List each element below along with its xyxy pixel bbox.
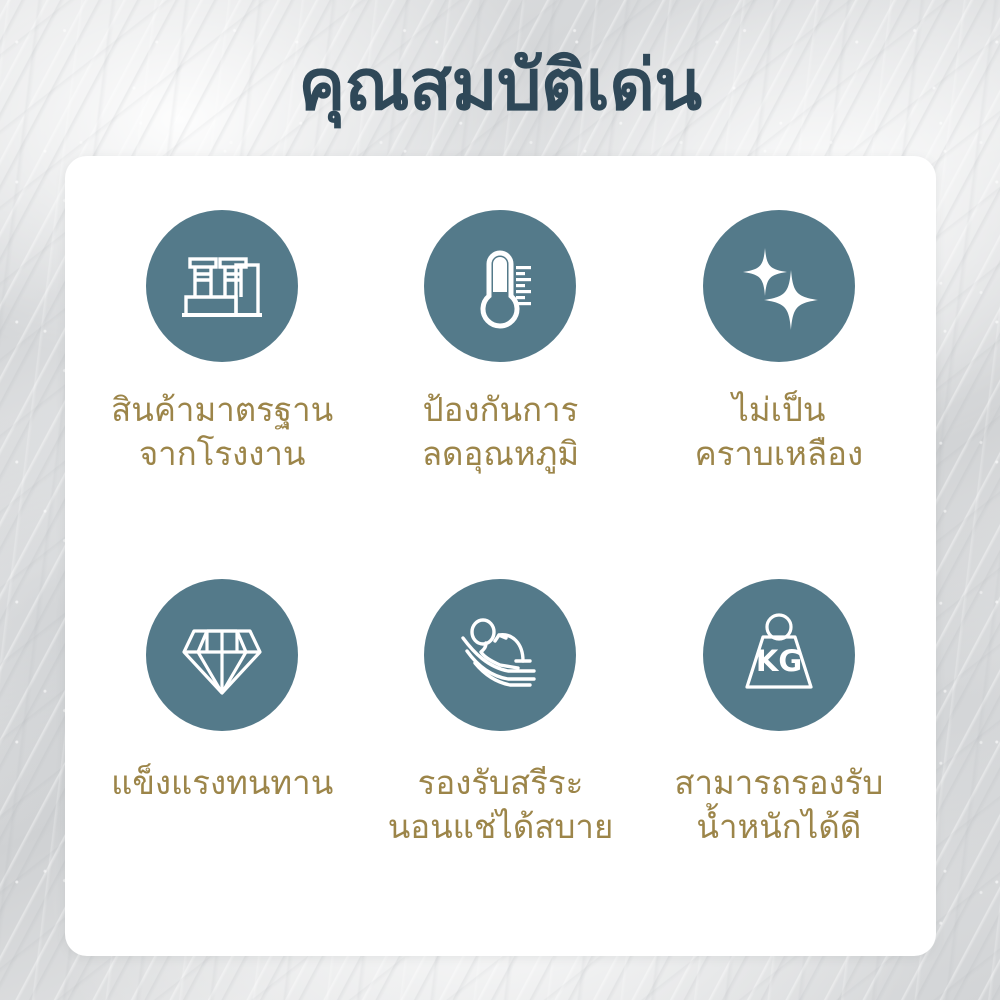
sparkle-icon-circle <box>703 210 855 362</box>
features-grid: สินค้ามาตรฐาน จากโรงงาน <box>65 156 936 956</box>
feature-item-weight: KG สามารถรองรับ น้ำหนักได้ดี <box>640 561 918 930</box>
feature-item-thermometer: ป้องกันการ ลดอุณหภูมิ <box>361 192 639 561</box>
feature-item-reclining-person: รองรับสรีระ นอนแช่ได้สบาย <box>361 561 639 930</box>
feature-item-diamond: แข็งแรงทนทาน <box>83 561 361 930</box>
diamond-icon-circle <box>146 579 298 731</box>
factory-icon-circle <box>146 210 298 362</box>
thermometer-icon <box>452 238 548 334</box>
page-title: คุณสมบัติเด่น <box>0 44 1000 127</box>
reclining-person-icon-circle <box>424 579 576 731</box>
weight-icon-circle: KG <box>703 579 855 731</box>
feature-label-thermometer: ป้องกันการ ลดอุณหภูมิ <box>422 388 579 475</box>
weight-kg-icon: KG <box>731 607 827 703</box>
kg-label: KG <box>756 644 802 678</box>
feature-label-reclining-person: รองรับสรีระ นอนแช่ได้สบาย <box>388 761 614 848</box>
sparkle-icon <box>729 236 829 336</box>
factory-icon <box>174 238 270 334</box>
feature-label-factory: สินค้ามาตรฐาน จากโรงงาน <box>111 388 333 475</box>
feature-label-weight: สามารถรองรับ น้ำหนักได้ดี <box>674 761 883 848</box>
feature-highlights-page: คุณสมบัติเด่น <box>0 0 1000 1000</box>
diamond-icon <box>174 607 270 703</box>
feature-label-sparkle: ไม่เป็น คราบเหลือง <box>695 388 863 475</box>
feature-item-sparkle: ไม่เป็น คราบเหลือง <box>640 192 918 561</box>
reclining-person-icon <box>450 605 550 705</box>
feature-label-diamond: แข็งแรงทนทาน <box>111 761 333 805</box>
feature-item-factory: สินค้ามาตรฐาน จากโรงงาน <box>83 192 361 561</box>
thermometer-icon-circle <box>424 210 576 362</box>
features-card: สินค้ามาตรฐาน จากโรงงาน <box>65 156 936 956</box>
